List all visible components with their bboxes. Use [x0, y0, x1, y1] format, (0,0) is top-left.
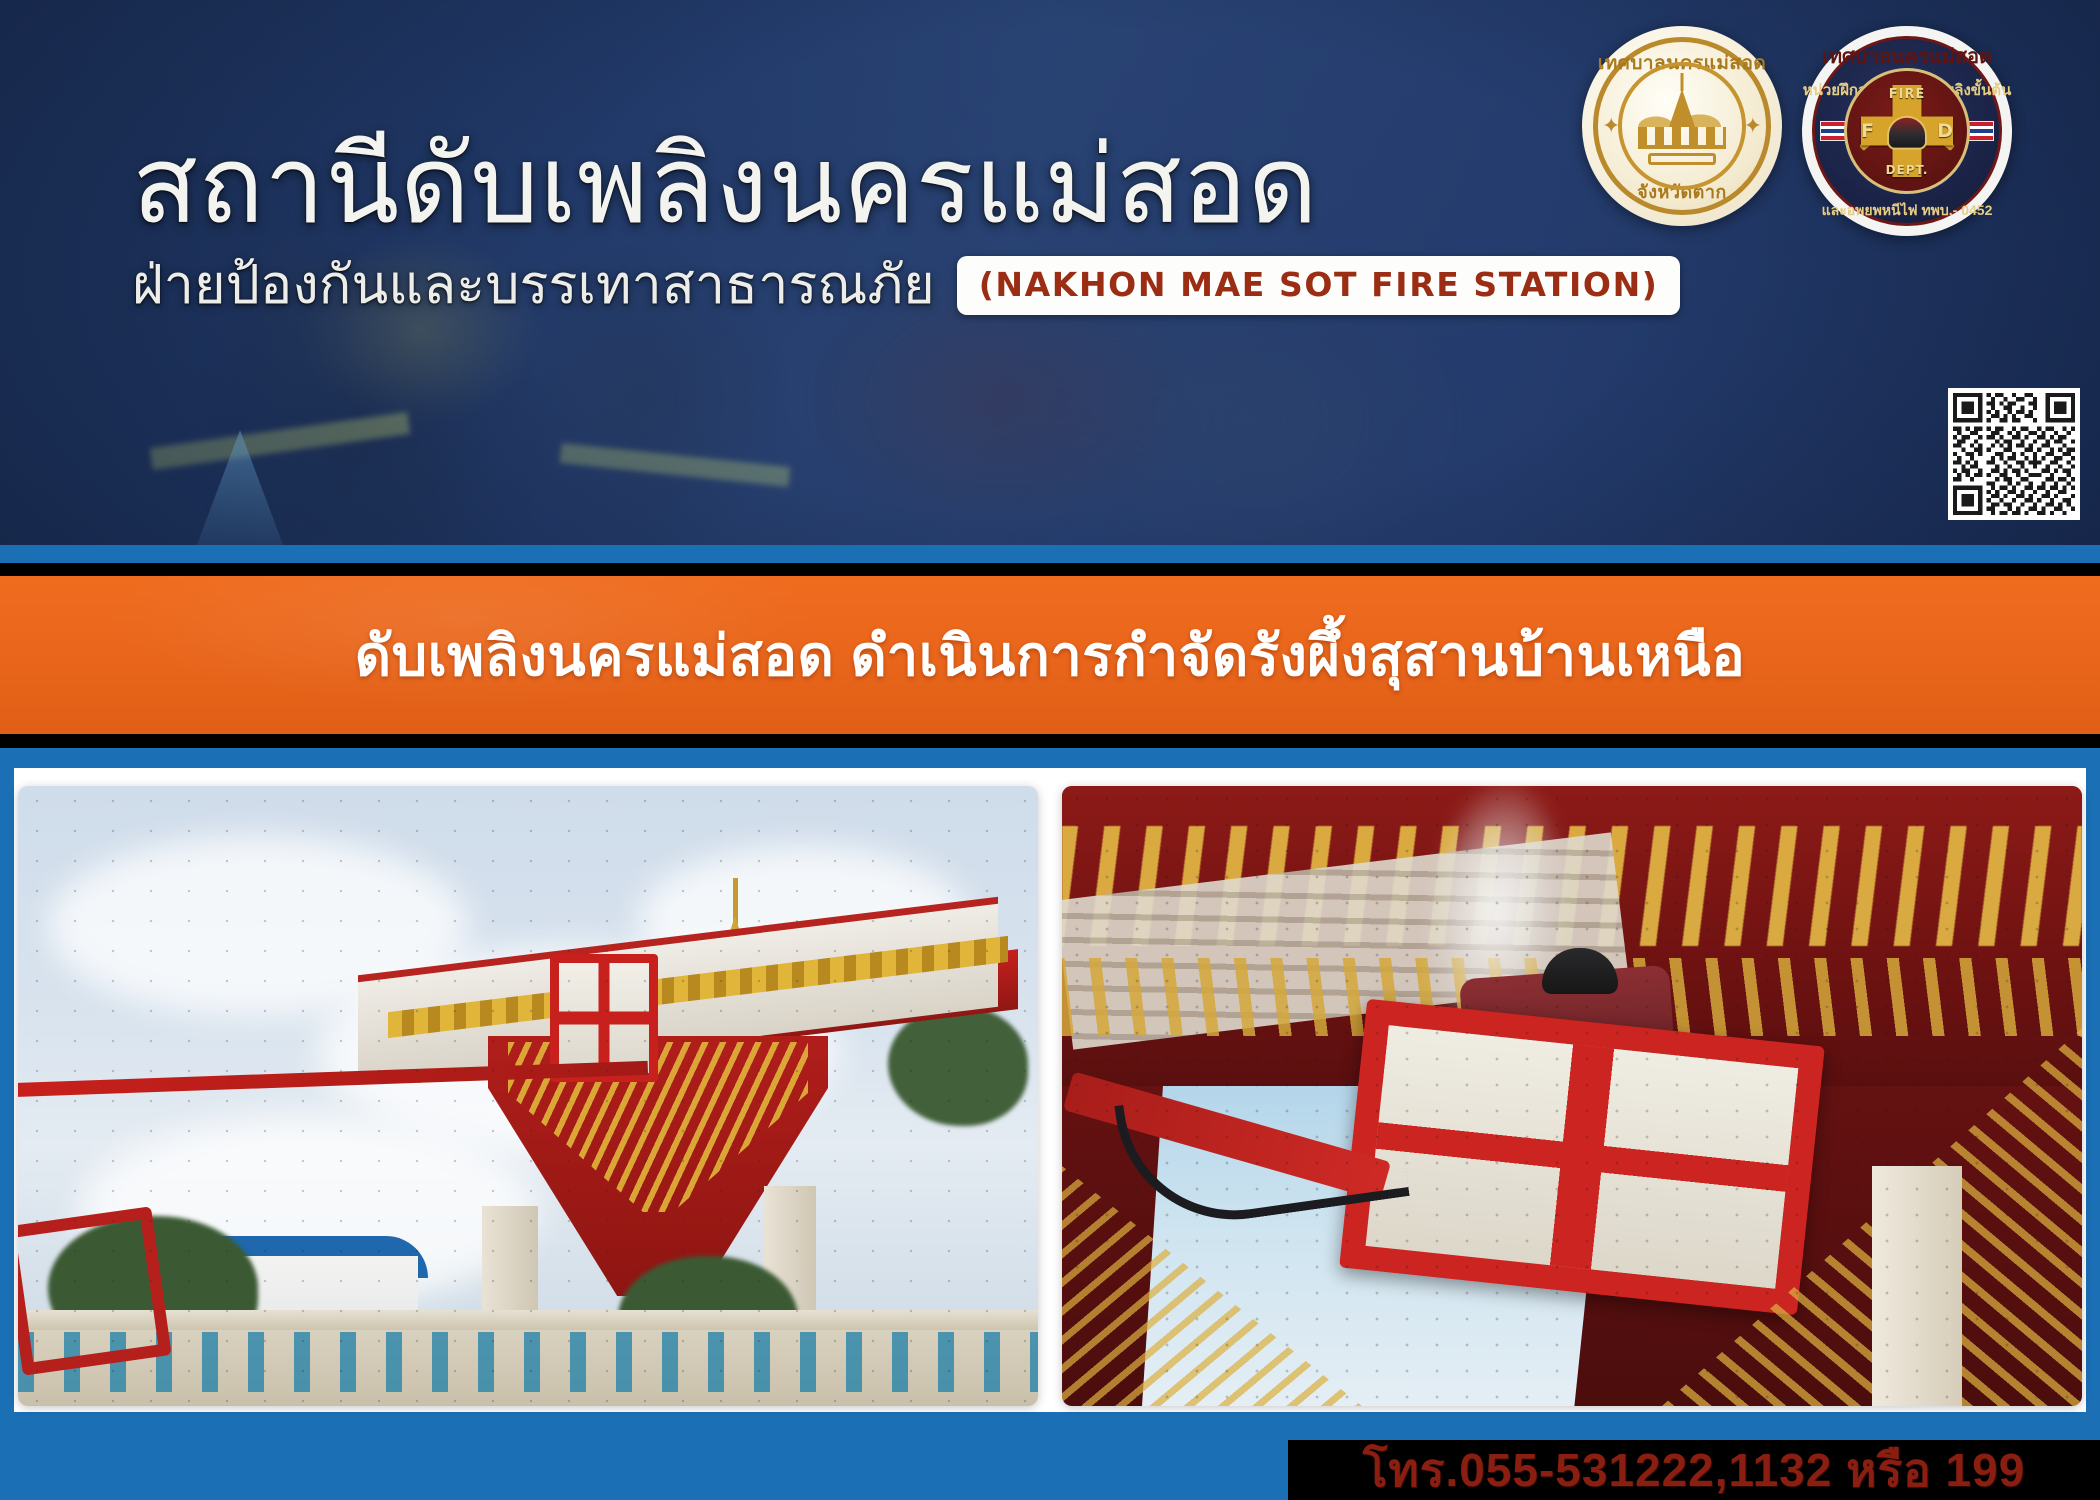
frame-rail-right [2086, 768, 2100, 1500]
poster-header: สถานีดับเพลิงนครแม่สอด ฝ่ายป้องกันและบรร… [0, 0, 2100, 545]
subtitle-row: ฝ่ายป้องกันและบรรเทาสาธารณภัย (NAKHON MA… [132, 256, 1512, 315]
pagoda-icon [1669, 89, 1695, 127]
bee-swarm-specks [18, 786, 1038, 1406]
dept-label: DEPT. [1886, 163, 1929, 177]
fd-letter-f: F [1861, 120, 1874, 142]
divider-blue-top [0, 545, 2100, 563]
contact-phone-strip: โทร.055-531222,1132 หรือ 199 [1288, 1440, 2100, 1500]
fire-department-seal-icon: เทศบาลนครแม่สอด หน่วยฝึกอบรมการดับเพลิงข… [1802, 26, 2012, 236]
city-seal-top-text: เทศบาลนครแม่สอด [1582, 48, 1782, 78]
fire-helmet-icon [1887, 116, 1927, 150]
fire-label: FIRE [1889, 87, 1926, 102]
phone-number-text: โทร.055-531222,1132 หรือ 199 [1363, 1434, 2026, 1500]
header-text-block: สถานีดับเพลิงนครแม่สอด ฝ่ายป้องกันและบรร… [132, 130, 1512, 315]
city-emblem-graphic [1634, 87, 1730, 165]
poster-root: สถานีดับเพลิงนครแม่สอด ฝ่ายป้องกันและบรร… [0, 0, 2100, 1500]
page-subtitle: ฝ่ายป้องกันและบรรเทาสาธารณภัย [132, 257, 935, 314]
photo-temple-pavilion-wide[interactable] [18, 786, 1038, 1406]
seal-star-icon: ✦ [1602, 113, 1620, 139]
english-name-badge: (NAKHON MAE SOT FIRE STATION) [957, 256, 1681, 315]
page-title: สถานีดับเพลิงนครแม่สอด [132, 130, 1512, 240]
qr-code-icon[interactable] [1948, 388, 2080, 520]
bee-swarm-specks [1062, 786, 2082, 1406]
photo-bucket-closeup[interactable] [1062, 786, 2082, 1406]
headline-banner: ดับเพลิงนครแม่สอด ดำเนินการกำจัดรังผึ้งส… [0, 576, 2100, 734]
logo-row: เทศบาลนครแม่สอด ✦ ✦ จังหวัดตาก เทศบาลนคร… [1582, 26, 2012, 236]
seal-star-icon: ✦ [1744, 113, 1762, 139]
pagoda-spire [1681, 73, 1684, 91]
city-seal-bottom-text: จังหวัดตาก [1582, 177, 1782, 206]
divider-blue-lower [0, 748, 2100, 768]
fire-seal-bottom-text: และอพยพหนีไฟ ทพบ.- 0452 [1802, 200, 2012, 222]
divider-black-lower [0, 734, 2100, 748]
photo-stage [0, 768, 2100, 1500]
city-municipality-seal-icon: เทศบาลนครแม่สอด ✦ ✦ จังหวัดตาก [1582, 26, 1782, 226]
hills-motif [1634, 101, 1730, 127]
fd-letter-d: D [1937, 120, 1953, 142]
divider-black-upper [0, 563, 2100, 576]
frame-rail-left [0, 768, 14, 1500]
city-wall-motif [1638, 127, 1726, 149]
maltese-cross-emblem: FIRE F D DEPT. [1859, 83, 1955, 179]
steps-motif [1648, 153, 1716, 165]
banner-headline-text: ดับเพลิงนครแม่สอด ดำเนินการกำจัดรังผึ้งส… [355, 611, 1746, 700]
